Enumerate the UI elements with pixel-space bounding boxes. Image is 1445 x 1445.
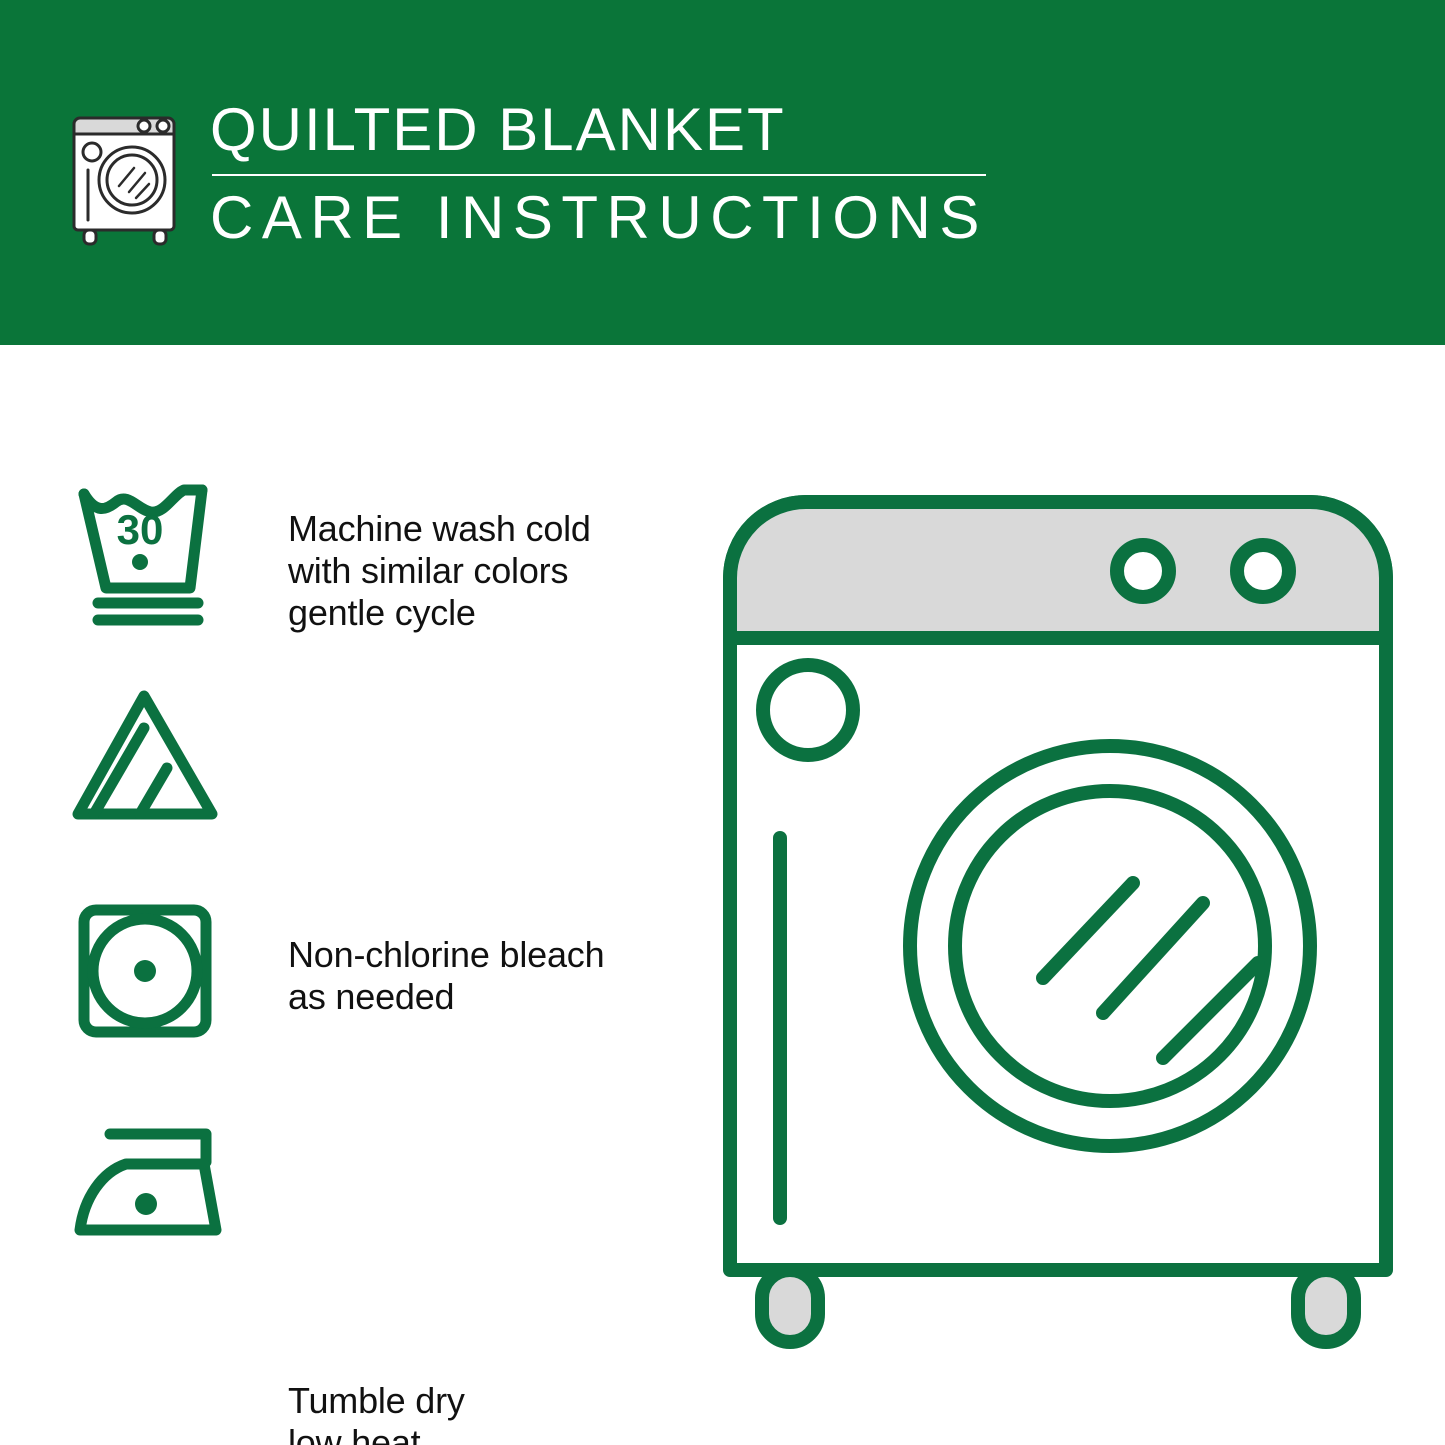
header-title-group: QUILTED BLANKET CARE INSTRUCTIONS — [210, 96, 988, 248]
non-chlorine-bleach-triangle-icon — [66, 682, 236, 842]
page-subtitle: CARE INSTRUCTIONS — [210, 188, 988, 248]
control-knob — [1117, 545, 1169, 597]
care-row-tumble-dry: Tumble dry low heat — [0, 894, 700, 1106]
care-text-line: low heat — [288, 1422, 688, 1445]
care-row-iron: Iron if needed low heat — [0, 1106, 700, 1318]
care-text-tumble-dry: Tumble dry low heat — [288, 1380, 688, 1445]
detergent-port — [763, 665, 853, 755]
care-text-line: Tumble dry — [288, 1380, 688, 1422]
control-knob — [1237, 545, 1289, 597]
wash-tub-30-gentle-icon: 30 — [66, 470, 236, 630]
care-row-wash: 30 Machine wash cold with similar colors… — [0, 470, 700, 682]
washing-machine-icon — [66, 96, 188, 248]
title-divider — [212, 174, 986, 176]
wash-temperature-value: 30 — [117, 506, 164, 553]
care-text-line: gentle cycle — [288, 592, 688, 634]
header-content: QUILTED BLANKET CARE INSTRUCTIONS — [66, 96, 988, 248]
tumble-dry-low-icon — [66, 894, 236, 1054]
machine-leg — [1298, 1270, 1354, 1342]
iron-low-heat-icon — [66, 1106, 236, 1266]
care-instructions-page: QUILTED BLANKET CARE INSTRUCTIONS — [0, 0, 1445, 1445]
header-band: QUILTED BLANKET CARE INSTRUCTIONS — [0, 0, 1445, 345]
care-row-bleach: Non-chlorine bleach as needed — [0, 682, 700, 894]
front-load-washing-machine-illustration — [718, 478, 1398, 1358]
machine-leg — [762, 1270, 818, 1342]
care-text-line: with similar colors — [288, 550, 688, 592]
door-inner-ring — [955, 791, 1265, 1101]
care-instruction-list: 30 Machine wash cold with similar colors… — [0, 470, 700, 1318]
care-text-line: Machine wash cold — [288, 508, 688, 550]
care-text-wash: Machine wash cold with similar colors ge… — [288, 508, 688, 634]
page-title: QUILTED BLANKET — [210, 100, 988, 160]
